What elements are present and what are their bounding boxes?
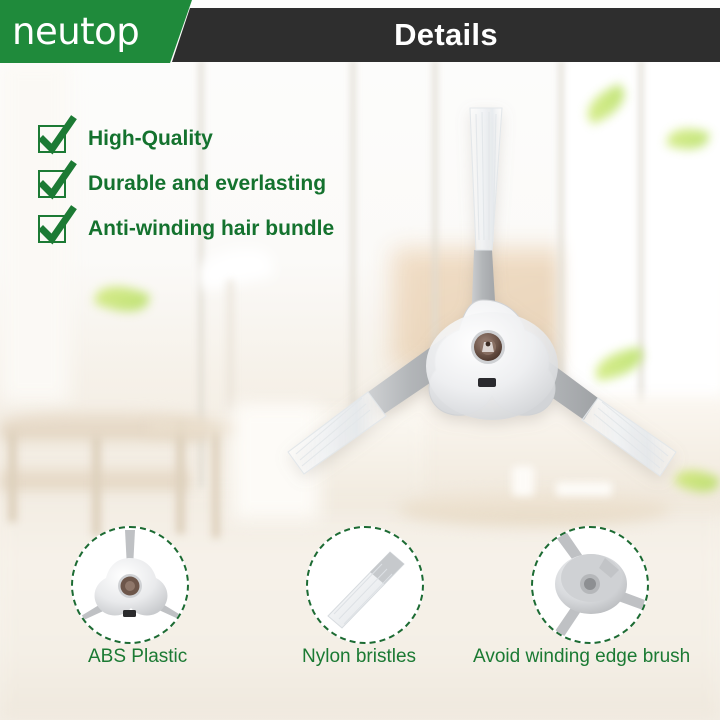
- feature-label: Anti-winding hair bundle: [88, 217, 334, 241]
- callout-caption: ABS Plastic: [88, 646, 187, 668]
- product-image-side-brush: [0, 0, 720, 560]
- brand-logo-banner: neutop: [0, 0, 192, 63]
- checkbox-checked-icon: [38, 215, 66, 243]
- feature-item: Durable and everlasting: [38, 161, 334, 206]
- product-detail-page: Details neutop High-Quality Durable and …: [0, 0, 720, 720]
- callout-circle-abs-plastic: [71, 526, 189, 644]
- callout-caption: Nylon bristles: [302, 646, 416, 668]
- callout-circle-avoid-winding: [531, 526, 649, 644]
- callout-circle-nylon-bristles: [306, 526, 424, 644]
- brand-logo-text: neutop: [12, 10, 139, 53]
- checkbox-checked-icon: [38, 170, 66, 198]
- feature-list: High-Quality Durable and everlasting Ant…: [38, 116, 334, 251]
- feature-item: High-Quality: [38, 116, 334, 161]
- checkbox-checked-icon: [38, 125, 66, 153]
- feature-item: Anti-winding hair bundle: [38, 206, 334, 251]
- feature-label: Durable and everlasting: [88, 172, 326, 196]
- callout-caption: Avoid winding edge brush: [473, 646, 690, 668]
- page-title: Details: [172, 8, 720, 62]
- feature-label: High-Quality: [88, 127, 213, 151]
